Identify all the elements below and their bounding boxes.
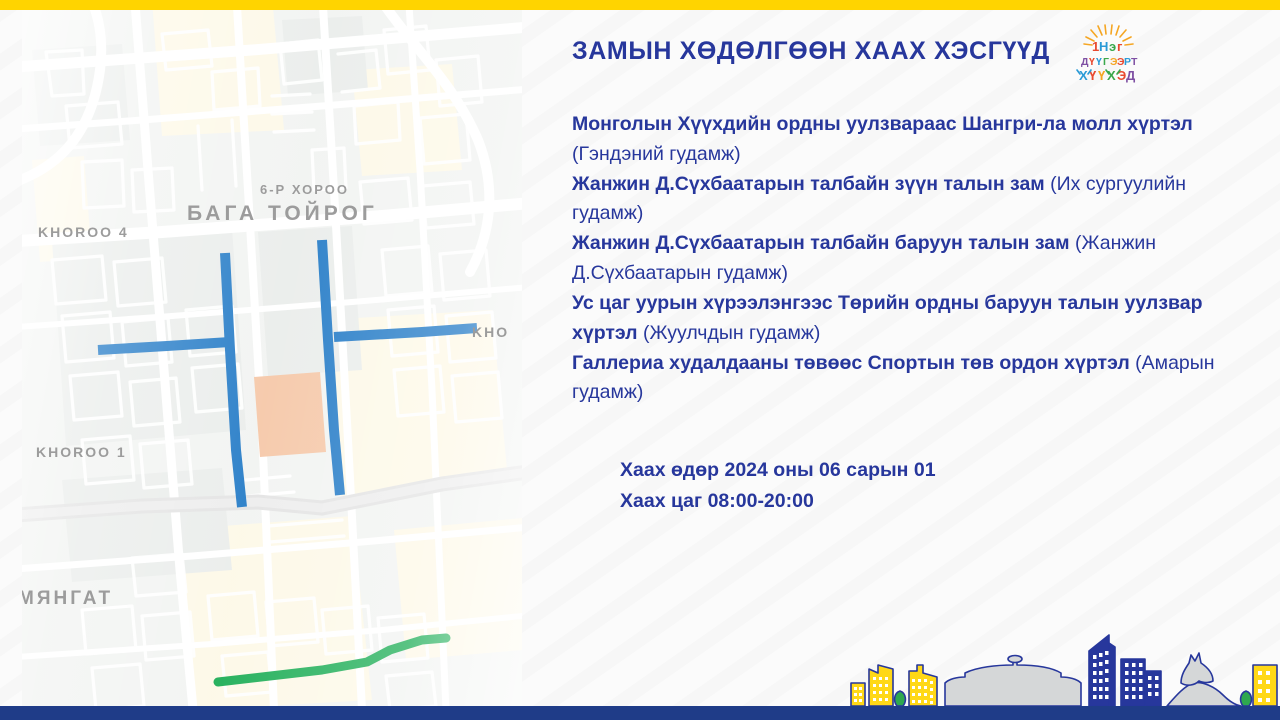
closed-street-list: Монголын Хүүхдийн ордны уулзвараас Шангр… (572, 110, 1222, 408)
map-label-khoroo4: KHOROO 4 (38, 224, 129, 240)
svg-text:э: э (1109, 39, 1116, 54)
street-name: Галлериа худалдааны төвөөс Спортын төв о… (572, 352, 1130, 374)
city-skyline-illustration (845, 621, 1280, 706)
content-panel: ЗАМЫН ХӨДӨЛГӨӨН ХААХ ХЭСГҮҮД (560, 0, 1260, 720)
svg-text:Г: Г (1103, 56, 1109, 68)
list-item: Монголын Хүүхдийн ордны уулзвараас Шангр… (572, 110, 1222, 170)
street-name: Жанжин Д.Сүхбаатарын талбайн зүүн талын … (572, 173, 1045, 195)
svg-text:Х: Х (1107, 68, 1116, 83)
svg-text:Д: Д (1081, 56, 1089, 68)
map-label-khoroo1: KHOROO 1 (36, 444, 127, 460)
svg-text:Р: Р (1124, 56, 1131, 68)
svg-text:Э: Э (1117, 68, 1126, 83)
closure-info: Хаах өдөр 2024 оны 06 сарын 01 Хаах цаг … (620, 455, 1220, 517)
list-item: Жанжин Д.Сүхбаатарын талбайн баруун талы… (572, 229, 1222, 289)
street-name: Жанжин Д.Сүхбаатарын талбайн баруун талы… (572, 232, 1070, 254)
list-item: Ус цаг уурын хүрээлэнгээс Төрийн ордны б… (572, 289, 1222, 349)
street-alias: (Жуулчдын гудамж) (643, 322, 820, 344)
svg-text:Ү: Ү (1089, 56, 1095, 68)
svg-text:Ү: Ү (1096, 56, 1102, 68)
map-label-khoroo6: 6-Р ХОРОО (260, 182, 349, 197)
street-alias: (Гэндэний гудамж) (572, 143, 741, 165)
street-name: Монголын Хүүхдийн ордны уулзвараас Шангр… (572, 113, 1193, 135)
neg-duugeert-huuhed-logo: 1 Н э г Д Ү Ү Г Э Э Р Т (1068, 24, 1150, 86)
svg-text:Ү: Ү (1098, 68, 1106, 83)
svg-text:Н: Н (1099, 39, 1108, 54)
bottom-accent-bar (0, 706, 1280, 720)
page-title: ЗАМЫН ХӨДӨЛГӨӨН ХААХ ХЭСГҮҮД (572, 36, 1050, 66)
closure-date: Хаах өдөр 2024 оны 06 сарын 01 (620, 455, 1220, 486)
logo-graphic: 1 Н э г Д Ү Ү Г Э Э Р Т (1068, 24, 1150, 86)
list-item: Галлериа худалдааны төвөөс Спортын төв о… (572, 349, 1222, 409)
svg-text:Т: Т (1131, 56, 1138, 68)
skyline-graphic (845, 621, 1280, 706)
svg-text:Х: Х (1079, 68, 1088, 83)
closure-time: Хаах цаг 08:00-20:00 (620, 486, 1220, 517)
road-closure-map[interactable]: 6-Р ХОРОО БАГА ТОЙРОГ KHOROO 4 KHOROO 1 … (22, 10, 522, 706)
list-item: Жанжин Д.Сүхбаатарын талбайн зүүн талын … (572, 170, 1222, 230)
title-row: ЗАМЫН ХӨДӨЛГӨӨН ХААХ ХЭСГҮҮД (572, 36, 1252, 86)
map-label-khoroo-right: KHO (472, 324, 509, 340)
map-label-myangat: МЯНГАТ (22, 588, 113, 610)
svg-text:Д: Д (1126, 68, 1136, 83)
svg-text:г: г (1117, 39, 1123, 54)
slide-canvas: 6-Р ХОРОО БАГА ТОЙРОГ KHOROO 4 KHOROO 1 … (0, 0, 1280, 720)
map-label-baga-toirog: БАГА ТОЙРОГ (187, 202, 378, 226)
